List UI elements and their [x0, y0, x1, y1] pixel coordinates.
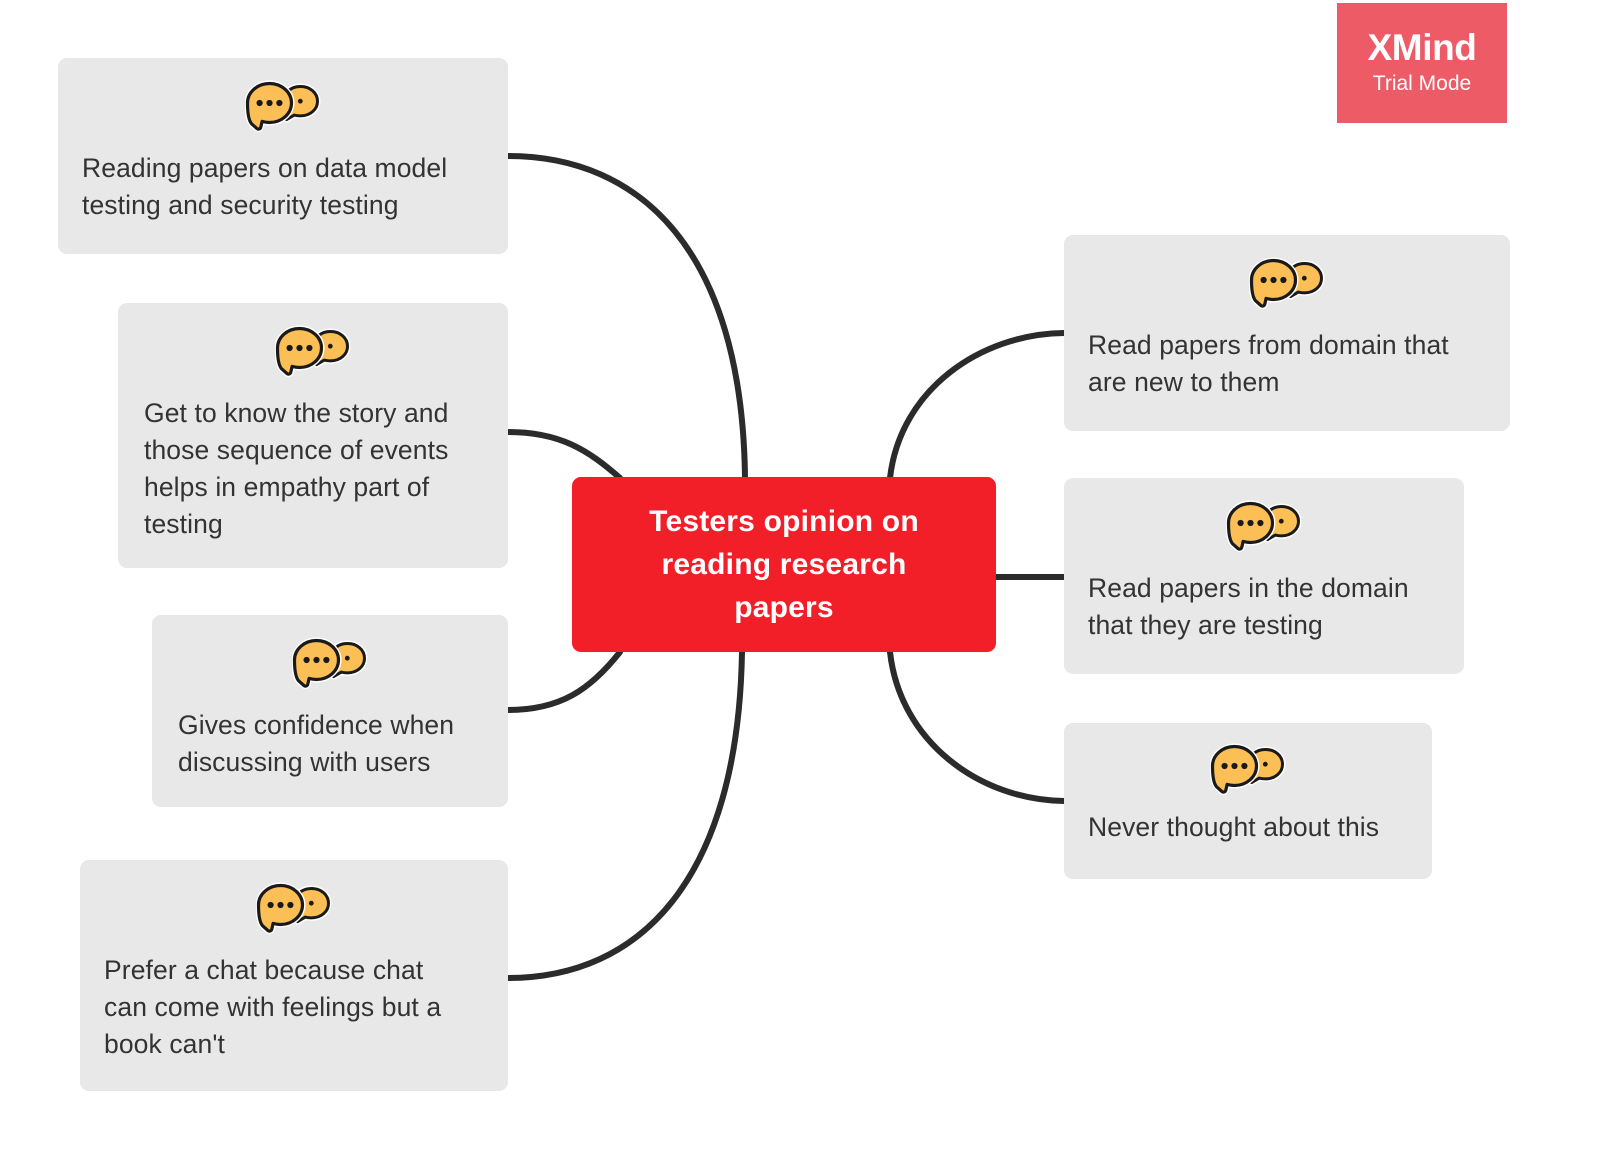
connector-left-1 — [508, 156, 745, 477]
connector-right-1 — [890, 333, 1064, 478]
node-icon-container — [80, 860, 508, 952]
speech-bubbles-icon — [292, 637, 368, 695]
speech-bubbles-icon — [245, 80, 321, 138]
speech-bubbles-icon — [1249, 257, 1325, 315]
connector-left-3 — [508, 652, 620, 710]
node-label: Never thought about this — [1064, 809, 1432, 846]
node-label: Prefer a chat because chat can come with… — [80, 952, 508, 1063]
xmind-trial-watermark: XMind Trial Mode — [1337, 3, 1507, 123]
node-icon-container — [1064, 478, 1464, 570]
connector-left-2 — [508, 432, 620, 478]
mindmap-node-right-2[interactable]: Read papers in the domain that they are … — [1064, 478, 1464, 674]
node-icon-container — [1064, 235, 1510, 327]
speech-bubbles-icon — [1210, 743, 1286, 801]
connector-right-3 — [890, 652, 1064, 801]
xmind-logo-text: XMind — [1368, 27, 1477, 69]
speech-bubbles-icon — [1226, 500, 1302, 558]
speech-bubbles-icon — [275, 325, 351, 383]
connector-left-4 — [508, 652, 742, 978]
mindmap-central-node[interactable]: Testers opinion on reading research pape… — [572, 477, 996, 652]
node-label: Reading papers on data model testing and… — [58, 150, 508, 224]
central-node-label: Testers opinion on reading research pape… — [631, 500, 937, 629]
mindmap-node-left-3[interactable]: Gives confidence when discussing with us… — [152, 615, 508, 807]
mindmap-node-right-1[interactable]: Read papers from domain that are new to … — [1064, 235, 1510, 431]
mindmap-node-left-1[interactable]: Reading papers on data model testing and… — [58, 58, 508, 254]
node-icon-container — [58, 58, 508, 150]
node-label: Read papers in the domain that they are … — [1064, 570, 1464, 644]
node-icon-container — [152, 615, 508, 707]
mindmap-canvas: Reading papers on data model testing and… — [0, 0, 1600, 1170]
node-icon-container — [1064, 723, 1432, 809]
speech-bubbles-icon — [256, 882, 332, 940]
node-label: Gives confidence when discussing with us… — [152, 707, 508, 781]
mindmap-node-left-4[interactable]: Prefer a chat because chat can come with… — [80, 860, 508, 1091]
mindmap-node-left-2[interactable]: Get to know the story and those sequence… — [118, 303, 508, 568]
mindmap-node-right-3[interactable]: Never thought about this — [1064, 723, 1432, 879]
node-label: Read papers from domain that are new to … — [1064, 327, 1510, 401]
xmind-trial-mode-label: Trial Mode — [1373, 69, 1471, 99]
node-icon-container — [118, 303, 508, 395]
node-label: Get to know the story and those sequence… — [118, 395, 508, 543]
